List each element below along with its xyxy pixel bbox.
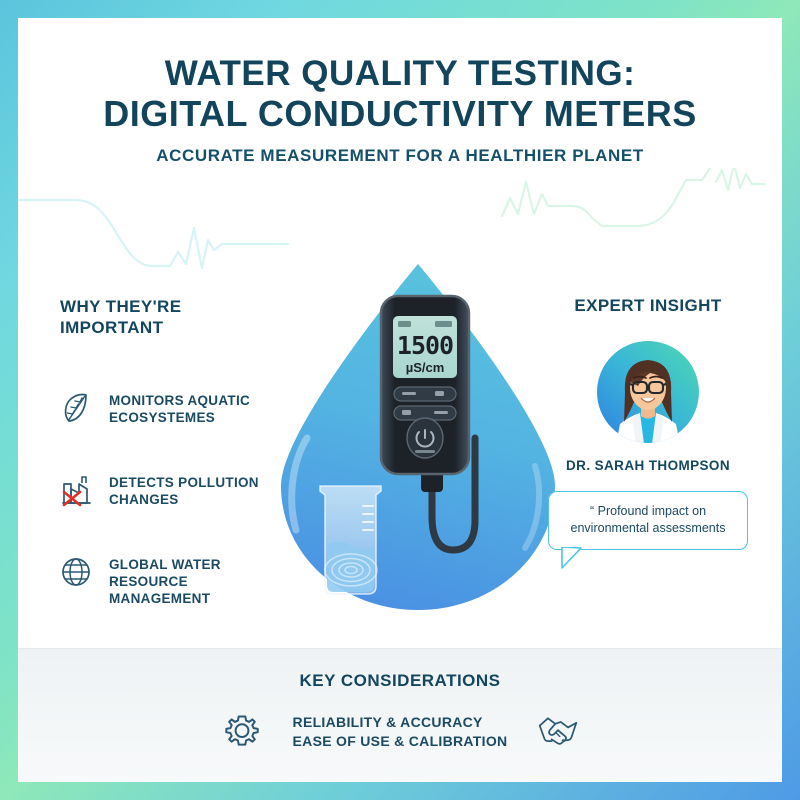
list-item-line1: MONITORS AQUATIC <box>109 392 250 409</box>
list-item-line2: ECOSYSTEMES <box>109 409 250 426</box>
leaf-icon <box>60 390 94 426</box>
list-item-line1: DETECTS POLLUTION <box>109 474 259 491</box>
list-item-line1: GLOBAL WATER <box>109 556 221 573</box>
list-item: GLOBAL WATER RESOURCE MANAGEMENT <box>60 554 290 607</box>
quote-line1: Profound impact on <box>598 504 706 518</box>
expert-quote-text: “ Profound impact on environmental asses… <box>559 503 737 537</box>
consideration-line1: RELIABILITY & ACCURACY <box>293 713 508 732</box>
key-considerations-heading: KEY CONSIDERATIONS <box>18 671 782 691</box>
expert-quote-bubble: “ Profound impact on environmental asses… <box>548 491 748 550</box>
lcd-indicator-left <box>398 321 411 327</box>
benefits-heading-line2: IMPORTANT <box>60 317 290 338</box>
list-item: DETECTS POLLUTION CHANGES <box>60 472 290 508</box>
factory-no-icon <box>60 472 94 508</box>
globe-icon <box>60 554 94 590</box>
handshake-icon <box>537 711 579 753</box>
lcd-unit-label: µS/cm <box>406 360 445 375</box>
list-item-line2: CHANGES <box>109 491 259 508</box>
lcd-indicator-right <box>435 321 452 327</box>
page-title-line1: WATER QUALITY TESTING: <box>18 54 782 94</box>
expert-heading: EXPERT INSIGHT <box>548 296 748 316</box>
list-item-line2: RESOURCE <box>109 573 221 590</box>
quote-mark: “ <box>590 504 594 518</box>
key-considerations-text: RELIABILITY & ACCURACY EASE OF USE & CAL… <box>293 713 508 751</box>
benefits-heading: WHY THEY'RE IMPORTANT <box>60 296 290 338</box>
expert-name: DR. SARAH THOMPSON <box>548 458 748 473</box>
waveform-decoration-left <box>18 178 298 288</box>
consideration-line2: EASE OF USE & CALIBRATION <box>293 732 508 751</box>
conductivity-meter-device: 1500 µS/cm <box>381 296 469 474</box>
expert-insight-section: EXPERT INSIGHT <box>548 296 748 550</box>
beaker-illustration <box>320 486 381 594</box>
header: WATER QUALITY TESTING: DIGITAL CONDUCTIV… <box>18 54 782 166</box>
list-item-line3: MANAGEMENT <box>109 590 221 607</box>
benefits-heading-line1: WHY THEY'RE <box>60 296 290 317</box>
list-item-label: DETECTS POLLUTION CHANGES <box>109 472 259 508</box>
list-item-label: GLOBAL WATER RESOURCE MANAGEMENT <box>109 554 221 607</box>
page-subtitle: ACCURATE MEASUREMENT FOR A HEALTHIER PLA… <box>18 146 782 166</box>
lcd-reading-value: 1500 <box>397 331 453 360</box>
water-drop-illustration: 1500 µS/cm <box>263 258 573 618</box>
avatar <box>596 340 700 444</box>
benefits-section: WHY THEY'RE IMPORTANT MONITORS AQUATIC E… <box>60 296 290 653</box>
gear-icon <box>221 711 263 753</box>
list-item-label: MONITORS AQUATIC ECOSYSTEMES <box>109 390 250 426</box>
quote-line2: environmental assessments <box>571 521 726 535</box>
key-considerations-row: RELIABILITY & ACCURACY EASE OF USE & CAL… <box>18 711 782 753</box>
page-title-line2: DIGITAL CONDUCTIVITY METERS <box>18 94 782 134</box>
poster-canvas: WATER QUALITY TESTING: DIGITAL CONDUCTIV… <box>18 18 782 782</box>
quote-bubble-tail <box>561 547 595 569</box>
infographic-poster: WATER QUALITY TESTING: DIGITAL CONDUCTIV… <box>0 0 800 800</box>
key-considerations-section: KEY CONSIDERATIONS RELIABILITY & ACCURAC… <box>18 648 782 782</box>
list-item: MONITORS AQUATIC ECOSYSTEMES <box>60 390 290 426</box>
